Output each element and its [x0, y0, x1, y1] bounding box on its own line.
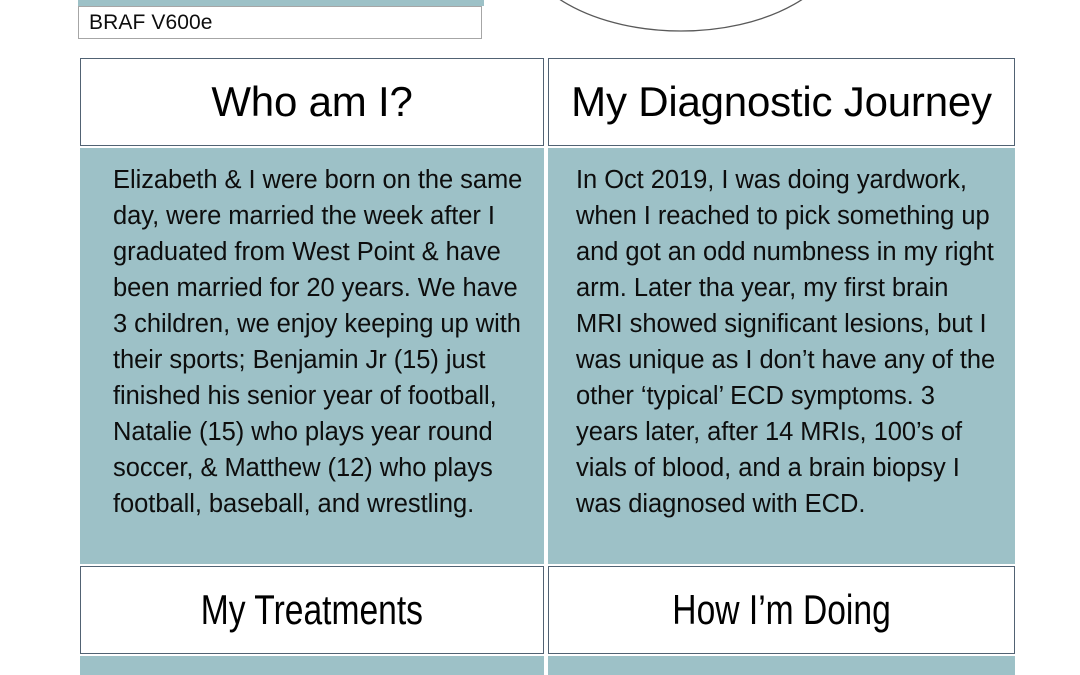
- quadrant-body-my-diagnostic-journey-text: In Oct 2019, I was doing yardwork, when …: [576, 162, 999, 522]
- quadrant-header-my-diagnostic-journey[interactable]: My Diagnostic Journey: [548, 58, 1015, 146]
- gene-label-box[interactable]: BRAF V600e: [78, 6, 482, 39]
- oval-outline-arc-svg: [500, 0, 880, 32]
- quadrant-header-how-im-doing[interactable]: How I’m Doing: [548, 566, 1015, 654]
- quadrant-table: Who am I? My Diagnostic Journey Elizabet…: [80, 58, 1015, 675]
- quadrant-body-my-diagnostic-journey: In Oct 2019, I was doing yardwork, when …: [548, 148, 1015, 564]
- quadrant-header-row-1: Who am I? My Diagnostic Journey: [80, 58, 1015, 146]
- quadrant-body-who-am-i-text: Elizabeth & I were born on the same day,…: [113, 162, 528, 522]
- quadrant-header-my-diagnostic-journey-label: My Diagnostic Journey: [571, 80, 992, 124]
- quadrant-body-my-treatments: [80, 656, 544, 675]
- quadrant-header-my-treatments-label: My Treatments: [201, 588, 423, 632]
- quadrant-header-how-im-doing-label: How I’m Doing: [672, 588, 890, 632]
- quadrant-header-who-am-i[interactable]: Who am I?: [80, 58, 544, 146]
- oval-shape: [521, 0, 841, 31]
- slide-canvas: BRAF V600e Who am I? My Diagnostic Journ…: [0, 0, 1080, 675]
- quadrant-body-who-am-i: Elizabeth & I were born on the same day,…: [80, 148, 544, 564]
- quadrant-header-who-am-i-label: Who am I?: [211, 80, 412, 124]
- quadrant-body-row-2: [80, 656, 1015, 675]
- quadrant-header-my-treatments[interactable]: My Treatments: [80, 566, 544, 654]
- oval-outline-arc: [500, 0, 880, 32]
- gene-label-text: BRAF V600e: [79, 12, 213, 33]
- quadrant-body-how-im-doing: [548, 656, 1015, 675]
- quadrant-header-row-2: My Treatments How I’m Doing: [80, 566, 1015, 654]
- quadrant-body-row-1: Elizabeth & I were born on the same day,…: [80, 148, 1015, 564]
